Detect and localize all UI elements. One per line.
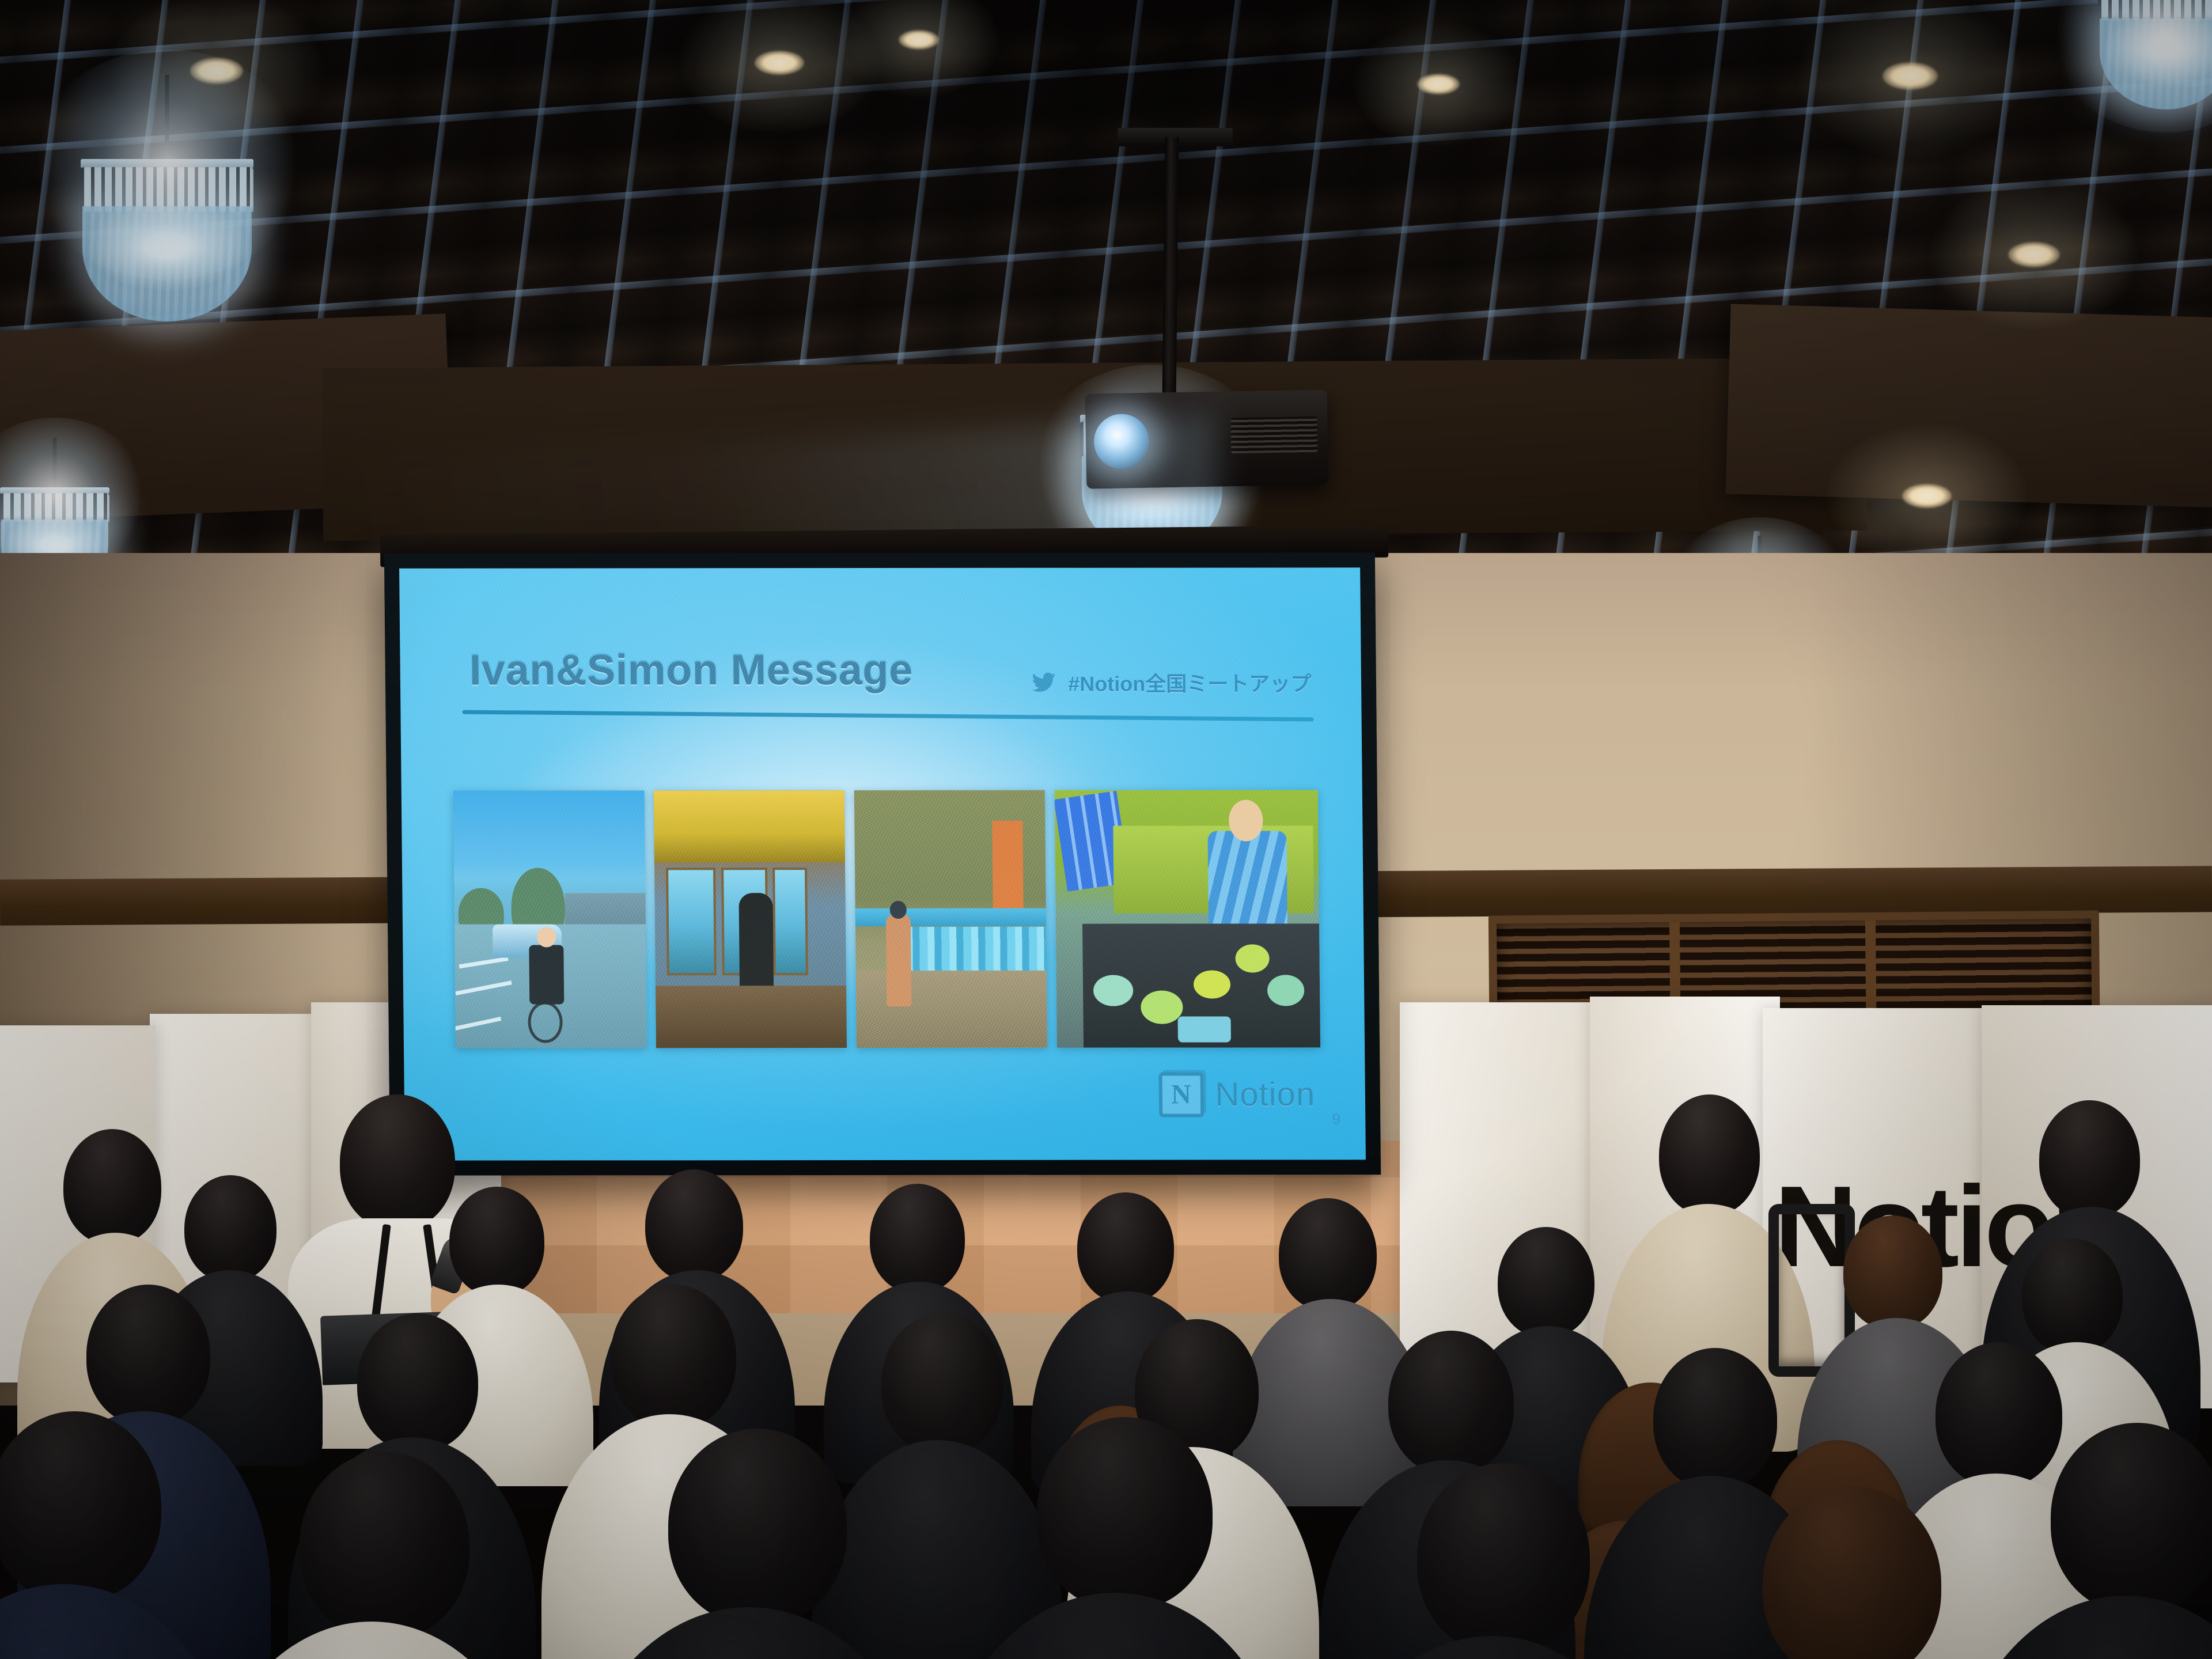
projector-lens [1093, 414, 1150, 470]
photo-floor [656, 986, 847, 1048]
panelist-head [1659, 1094, 1760, 1215]
recessed-downlight [1902, 484, 1952, 508]
audience-head [611, 1285, 736, 1429]
audience-head [870, 1184, 965, 1293]
presentation-slide: Ivan&Simon Message #Notion全国ミートアップ [399, 567, 1366, 1160]
person-head [63, 1129, 161, 1244]
audience-head [645, 1169, 743, 1282]
slide-photo-supermarket [854, 790, 1048, 1047]
recessed-downlight [2008, 242, 2060, 267]
photo-standing-person [738, 893, 774, 1002]
photo-bicycle-wheel [528, 1002, 562, 1043]
slide-title: Ivan&Simon Message [469, 645, 913, 695]
panelist-head [2039, 1100, 2140, 1218]
notion-cube-icon: N [1158, 1072, 1204, 1117]
recessed-downlight [1417, 74, 1460, 94]
audience-head [2022, 1238, 2123, 1354]
lamp-cord [53, 438, 57, 490]
audience-head [1498, 1227, 1594, 1338]
audience-head [668, 1429, 847, 1624]
photo-dish [1178, 1016, 1231, 1042]
photo-dish [1235, 944, 1270, 972]
audience-head [1037, 1417, 1213, 1610]
ceiling-projector [1085, 389, 1329, 488]
audience-head [2051, 1423, 2212, 1613]
slide-photo-cyclist [453, 790, 647, 1048]
slide-hashtag-text: #Notion全国ミートアップ [1068, 667, 1311, 697]
venue-photo: Notion Ivan&Simon Message #Notion全国ミートアッ… [0, 0, 2212, 1659]
recessed-downlight [899, 30, 939, 50]
photo-man-yukata [1208, 831, 1288, 939]
audience-head [1417, 1463, 1590, 1653]
audience-head [86, 1285, 210, 1426]
projector-vent [1230, 416, 1317, 454]
audience-head [1935, 1342, 2062, 1487]
audience-head [1388, 1331, 1514, 1475]
twitter-bird-icon [1029, 669, 1059, 695]
photo-floor [856, 970, 1048, 1047]
photo-man-head [1229, 800, 1263, 842]
slide-photo-strip [453, 790, 1321, 1048]
pendant-lamp [58, 75, 276, 300]
audience-head [1077, 1192, 1174, 1303]
audience-head [1653, 1348, 1777, 1490]
lamp-fretwork-collar [2098, 0, 2212, 21]
slide-divider-rule [462, 710, 1313, 721]
slide-page-number: 9 [1332, 1110, 1340, 1128]
audience-head [0, 1411, 161, 1601]
lamp-glass-bowl [2100, 18, 2212, 109]
lamp-fretwork-collar [0, 493, 109, 522]
audience-head [1279, 1198, 1377, 1310]
photo-awning [654, 790, 846, 862]
audience-head [449, 1187, 544, 1296]
pendant-lamp [2080, 0, 2212, 138]
slide-hashtag: #Notion全国ミートアップ [1029, 667, 1312, 697]
photo-cyclist-body [529, 945, 565, 1004]
presenter-head [340, 1094, 455, 1230]
photo-hanging-banner [992, 821, 1024, 914]
slide-notion-logo: N Notion [1158, 1072, 1315, 1117]
recessed-downlight [1883, 62, 1938, 90]
audience-head [184, 1175, 276, 1282]
photo-dish [1193, 970, 1230, 998]
photo-shop-window [666, 868, 717, 976]
recessed-downlight [755, 51, 804, 75]
audience-head [881, 1313, 1003, 1454]
photo-shop-window [773, 868, 808, 976]
lamp-fretwork-collar [81, 167, 253, 212]
notion-wordmark: Notion [1215, 1075, 1315, 1114]
photo-cyclist-head [537, 927, 556, 948]
projection-screen-frame: Ivan&Simon Message #Notion全国ミートアップ [384, 552, 1381, 1175]
audience-head [300, 1452, 469, 1639]
lamp-cord [165, 75, 169, 161]
projector-mount-pole [1162, 137, 1179, 396]
photo-dish [1093, 975, 1133, 1006]
audience-head [357, 1313, 478, 1452]
audience-head [1843, 1215, 1942, 1330]
slide-photo-yukata-meal [1055, 790, 1321, 1048]
photo-shelf [855, 908, 1047, 927]
slide-photo-shop-entrance [654, 790, 847, 1048]
photo-shopper-body [886, 914, 912, 1006]
photo-dish [1267, 975, 1305, 1006]
